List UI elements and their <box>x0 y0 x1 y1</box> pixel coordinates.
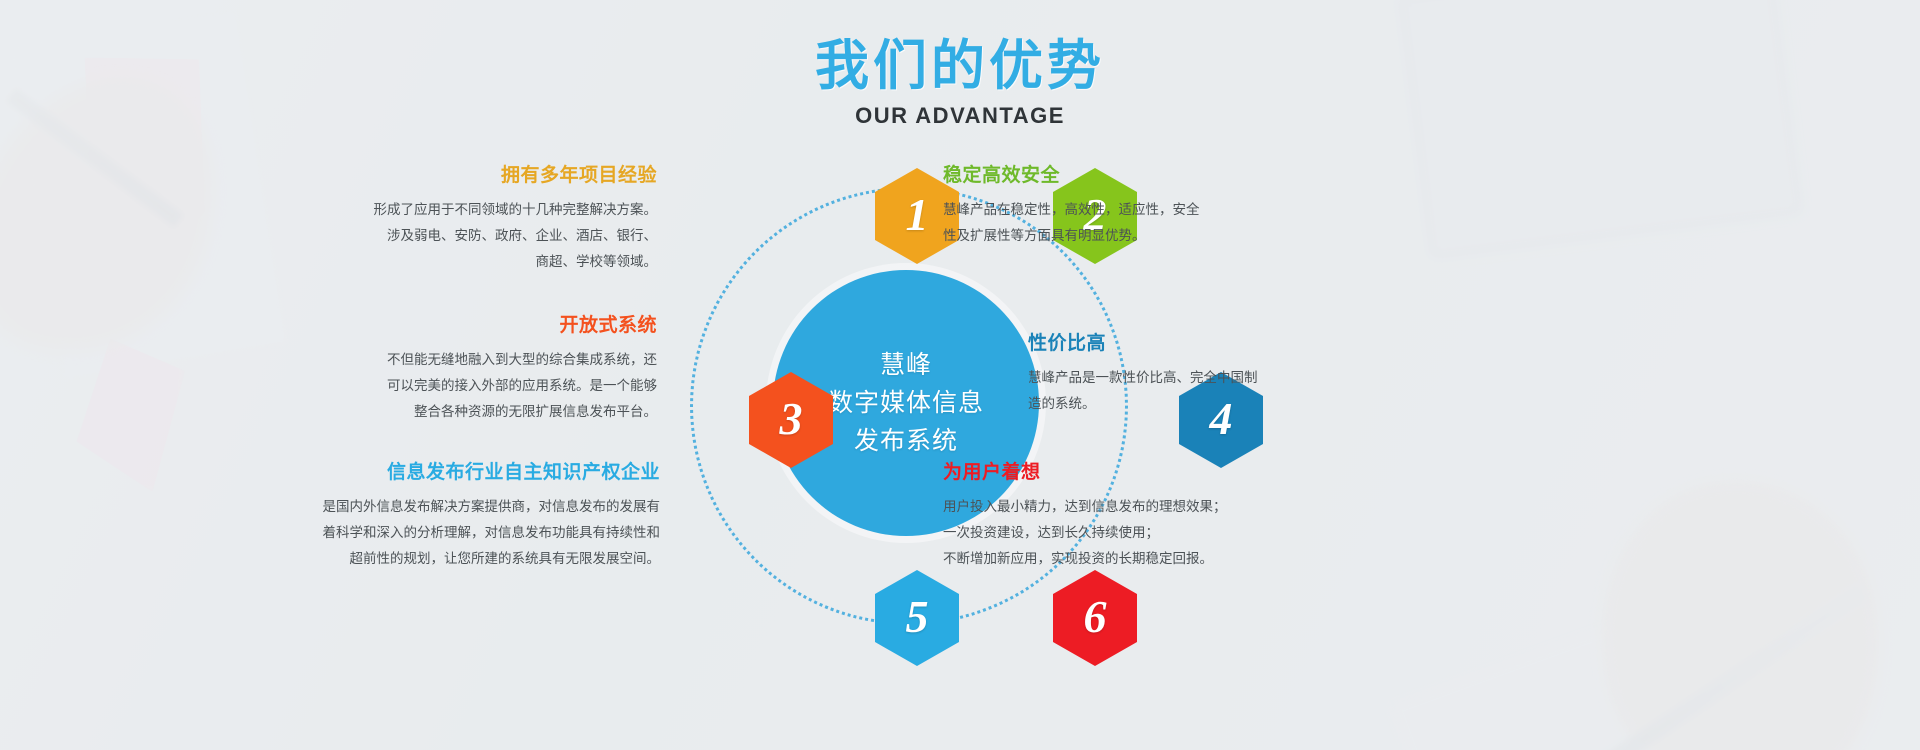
feature-body-line: 一次投资建设，达到长久持续使用； <box>943 520 1303 546</box>
feature-body-line: 不但能无缝地融入到大型的综合集成系统，还 <box>290 347 657 373</box>
feature-body-line: 着科学和深入的分析理解，对信息发布功能具有持续性和 <box>290 520 660 546</box>
page-header: 我们的优势 OUR ADVANTAGE <box>0 38 1920 129</box>
feature-body-line: 造的系统。 <box>1028 391 1373 417</box>
feature-body-line: 用户投入最小精力，达到信息发布的理想效果； <box>943 494 1303 520</box>
feature-body-line: 商超、学校等领域。 <box>317 249 657 275</box>
feature-block-2: 稳定高效安全 慧峰产品在稳定性，高效性，适应性，安全性及扩展性等方面具有明显优势… <box>943 165 1303 249</box>
feature-block-1: 拥有多年项目经验 形成了应用于不同领域的十几种完整解决方案。涉及弱电、安防、政府… <box>317 165 657 276</box>
feature-body-3: 不但能无缝地融入到大型的综合集成系统，还可以完美的接入外部的应用系统。是一个能够… <box>290 347 657 426</box>
center-line-3: 发布系统 <box>854 422 958 460</box>
badge-hexagon-6[interactable]: 6 <box>1053 570 1137 666</box>
feature-body-line: 是国内外信息发布解决方案提供商，对信息发布的发展有 <box>290 494 660 520</box>
feature-block-4: 性价比高 慧峰产品是一款性价比高、完全中国制造的系统。 <box>1028 333 1373 417</box>
feature-title-6: 为用户着想 <box>943 462 1303 485</box>
feature-body-line: 性及扩展性等方面具有明显优势。 <box>943 223 1303 249</box>
feature-body-6: 用户投入最小精力，达到信息发布的理想效果；一次投资建设，达到长久持续使用；不断增… <box>943 494 1303 573</box>
feature-body-line: 形成了应用于不同领域的十几种完整解决方案。 <box>317 197 657 223</box>
feature-body-line: 不断增加新应用，实现投资的长期稳定回报。 <box>943 546 1303 572</box>
badge-number-6: 6 <box>1084 590 1107 643</box>
feature-body-line: 慧峰产品是一款性价比高、完全中国制 <box>1028 365 1373 391</box>
badge-number-5: 5 <box>906 590 929 643</box>
feature-block-3: 开放式系统 不但能无缝地融入到大型的综合集成系统，还可以完美的接入外部的应用系统… <box>290 315 657 426</box>
advantage-infographic: 我们的优势 OUR ADVANTAGE 慧峰 数字媒体信息 发布系统 1 2 3… <box>0 0 1920 750</box>
page-title-en: OUR ADVANTAGE <box>0 103 1920 129</box>
center-line-2: 数字媒体信息 <box>828 384 984 422</box>
feature-body-4: 慧峰产品是一款性价比高、完全中国制造的系统。 <box>1028 365 1373 418</box>
page-title-cn: 我们的优势 <box>0 38 1920 95</box>
feature-body-line: 涉及弱电、安防、政府、企业、酒店、银行、 <box>317 223 657 249</box>
feature-title-1: 拥有多年项目经验 <box>317 165 657 188</box>
feature-body-1: 形成了应用于不同领域的十几种完整解决方案。涉及弱电、安防、政府、企业、酒店、银行… <box>317 197 657 276</box>
feature-body-5: 是国内外信息发布解决方案提供商，对信息发布的发展有着科学和深入的分析理解，对信息… <box>290 494 660 573</box>
feature-block-5: 信息发布行业自主知识产权企业 是国内外信息发布解决方案提供商，对信息发布的发展有… <box>290 462 660 573</box>
center-line-1: 慧峰 <box>880 346 932 384</box>
badge-number-3: 3 <box>780 392 803 445</box>
feature-body-2: 慧峰产品在稳定性，高效性，适应性，安全性及扩展性等方面具有明显优势。 <box>943 197 1303 250</box>
feature-title-4: 性价比高 <box>1028 333 1373 356</box>
feature-body-line: 超前性的规划，让您所建的系统具有无限发展空间。 <box>290 546 660 572</box>
feature-title-5: 信息发布行业自主知识产权企业 <box>290 462 660 485</box>
feature-title-2: 稳定高效安全 <box>943 165 1303 188</box>
feature-body-line: 可以完美的接入外部的应用系统。是一个能够 <box>290 373 657 399</box>
feature-body-line: 慧峰产品在稳定性，高效性，适应性，安全 <box>943 197 1303 223</box>
feature-title-3: 开放式系统 <box>290 315 657 338</box>
feature-body-line: 整合各种资源的无限扩展信息发布平台。 <box>290 399 657 425</box>
badge-number-1: 1 <box>906 188 929 241</box>
feature-block-6: 为用户着想 用户投入最小精力，达到信息发布的理想效果；一次投资建设，达到长久持续… <box>943 462 1303 573</box>
